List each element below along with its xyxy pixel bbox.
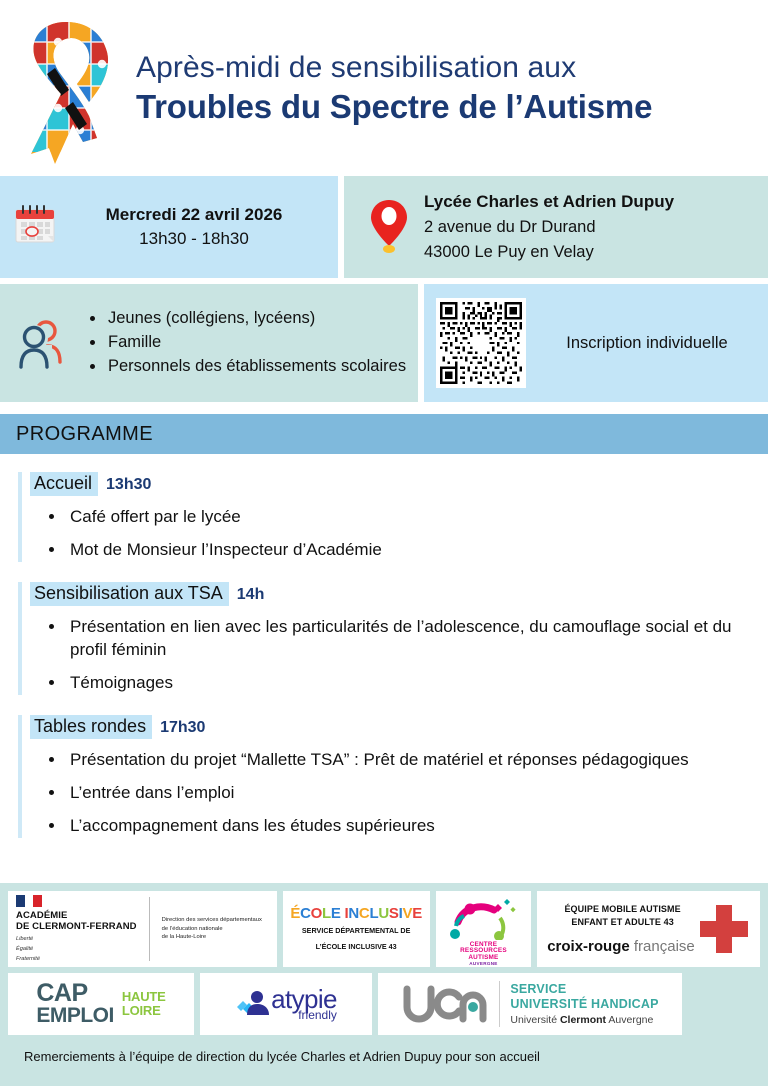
list-item: Mot de Monsieur l’Inspecteur d’Académie xyxy=(66,539,754,562)
uca-line2: UNIVERSITÉ HANDICAP xyxy=(510,997,658,1012)
cap-emploi-region2: LOIRE xyxy=(122,1004,166,1018)
logo-cap-emploi: CAP EMPLOI HAUTE LOIRE xyxy=(8,973,194,1035)
info-row-top: Mercredi 22 avril 2026 13h30 - 18h30 Lyc… xyxy=(0,176,768,278)
programme-section-time: 14h xyxy=(237,586,265,604)
programme-section-tables-rondes: Tables rondes 17h30 Présentation du proj… xyxy=(18,715,754,838)
programme-section-items: Présentation du projet “Mallette TSA” : … xyxy=(22,749,754,838)
list-item: Jeunes (collégiens, lycéens) xyxy=(106,307,406,331)
academie-line2: DE CLERMONT-FERRAND xyxy=(16,921,137,933)
cra-line4: AUVERGNE xyxy=(460,962,507,967)
audience-box: Jeunes (collégiens, lycéens) Famille Per… xyxy=(0,284,418,402)
autism-puzzle-ribbon-icon xyxy=(10,6,122,171)
croix-rouge-brand-light: française xyxy=(634,938,695,955)
two-people-icon xyxy=(10,317,74,369)
programme-section-time: 17h30 xyxy=(160,719,205,737)
logo-row-bottom: CAP EMPLOI HAUTE LOIRE atypie xyxy=(8,973,760,1035)
programme-section-name: Tables rondes xyxy=(30,715,152,739)
list-item: Personnels des établissements scolaires xyxy=(106,355,406,379)
poster-header: Après-midi de sensibilisation aux Troubl… xyxy=(0,0,768,176)
map-pin-icon xyxy=(362,198,416,256)
place-text: Lycée Charles et Adrien Dupuy 2 avenue d… xyxy=(416,189,674,265)
venue-address-line1: 2 avenue du Dr Durand xyxy=(424,215,674,240)
academie-motto1: Liberté xyxy=(16,936,137,943)
calendar-icon xyxy=(12,202,68,253)
event-time-range: 13h30 - 18h30 xyxy=(68,227,320,252)
logo-ecole-inclusive: ÉCOLE INCLUSIVE SERVICE DÉPARTEMENTAL DE… xyxy=(283,891,430,967)
academie-desc3: de la Haute-Loire xyxy=(162,933,262,941)
croix-rouge-line1: ÉQUIPE MOBILE AUTISME xyxy=(547,903,698,915)
academie-desc2: de l’éducation nationale xyxy=(162,925,262,933)
divider xyxy=(149,897,150,962)
info-row-bottom: Jeunes (collégiens, lycéens) Famille Per… xyxy=(0,284,768,402)
uca-mark-icon xyxy=(401,981,489,1027)
list-item: Présentation en lien avec les particular… xyxy=(66,616,754,662)
programme-section-name: Accueil xyxy=(30,472,98,496)
list-item: Café offert par le lycée xyxy=(66,506,754,529)
logo-croix-rouge-francaise: ÉQUIPE MOBILE AUTISME ENFANT ET ADULTE 4… xyxy=(537,891,760,967)
date-text: Mercredi 22 avril 2026 13h30 - 18h30 xyxy=(68,202,338,252)
poster-footer: ACADÉMIE DE CLERMONT-FERRAND Liberté Éga… xyxy=(0,883,768,1086)
cap-emploi-word2: EMPLOI xyxy=(36,1006,114,1026)
list-item: Présentation du projet “Mallette TSA” : … xyxy=(66,749,754,772)
croix-rouge-brand: croix-rouge française xyxy=(547,938,698,955)
programme-section-sensibilisation: Sensibilisation aux TSA 14h Présentation… xyxy=(18,582,754,695)
academie-line1: ACADÉMIE xyxy=(16,910,137,922)
list-item: L’entrée dans l’emploi xyxy=(66,782,754,805)
academie-motto3: Fraternité xyxy=(16,956,137,963)
logo-atypie-friendly: atypie friendly xyxy=(200,973,372,1035)
divider xyxy=(499,981,500,1027)
cra-mark-icon xyxy=(444,892,522,940)
list-item: L’accompagnement dans les études supérie… xyxy=(66,815,754,838)
place-box: Lycée Charles et Adrien Dupuy 2 avenue d… xyxy=(344,176,768,278)
audience-list: Jeunes (collégiens, lycéens) Famille Per… xyxy=(74,307,406,379)
academie-desc1: Direction des services départementaux xyxy=(162,916,262,924)
logo-centre-ressources-autisme: CENTRE RESSOURCES AUTISME AUVERGNE xyxy=(436,891,531,967)
cap-emploi-word1: CAP xyxy=(36,982,114,1006)
cap-emploi-region1: HAUTE xyxy=(122,990,166,1004)
red-cross-icon xyxy=(698,903,750,955)
programme-section-head: Sensibilisation aux TSA 14h xyxy=(22,582,754,606)
programme-body: Accueil 13h30 Café offert par le lycée M… xyxy=(0,454,768,868)
programme-header-bar: PROGRAMME xyxy=(0,414,768,454)
venue-address-line2: 43000 Le Puy en Velay xyxy=(424,240,674,265)
ecole-inclusive-sub1: SERVICE DÉPARTEMENTAL DE xyxy=(302,926,411,936)
venue-name: Lycée Charles et Adrien Dupuy xyxy=(424,189,674,215)
registration-box: Inscription individuelle xyxy=(424,284,768,402)
registration-label: Inscription individuelle xyxy=(526,334,768,353)
page-title-line1: Après-midi de sensibilisation aux xyxy=(136,49,754,87)
qr-code-icon[interactable] xyxy=(436,298,526,388)
uca-line1: SERVICE xyxy=(510,982,658,997)
list-item: Famille xyxy=(106,331,406,355)
date-box: Mercredi 22 avril 2026 13h30 - 18h30 xyxy=(0,176,338,278)
poster-root: Après-midi de sensibilisation aux Troubl… xyxy=(0,0,768,1086)
logo-uca-service-universite-handicap: SERVICE UNIVERSITÉ HANDICAP Université C… xyxy=(378,973,682,1035)
croix-rouge-brand-bold: croix-rouge xyxy=(547,938,630,955)
programme-section-time: 13h30 xyxy=(106,476,151,494)
info-boxes: Mercredi 22 avril 2026 13h30 - 18h30 Lyc… xyxy=(0,176,768,402)
programme-section-accueil: Accueil 13h30 Café offert par le lycée M… xyxy=(18,472,754,562)
programme-section-head: Accueil 13h30 xyxy=(22,472,754,496)
programme-section-items: Café offert par le lycée Mot de Monsieur… xyxy=(22,506,754,562)
programme-section-name: Sensibilisation aux TSA xyxy=(30,582,229,606)
poster-title-block: Après-midi de sensibilisation aux Troubl… xyxy=(122,49,760,128)
logo-academie-clermont-ferrand: ACADÉMIE DE CLERMONT-FERRAND Liberté Éga… xyxy=(8,891,277,967)
atypie-mark-icon xyxy=(235,989,271,1019)
ecole-inclusive-sub2: L’ÉCOLE INCLUSIVE 43 xyxy=(316,942,397,952)
list-item: Témoignages xyxy=(66,672,754,695)
programme-section-head: Tables rondes 17h30 xyxy=(22,715,754,739)
programme-section-items: Présentation en lien avec les particular… xyxy=(22,616,754,695)
croix-rouge-line2: ENFANT ET ADULTE 43 xyxy=(547,916,698,928)
programme-title: PROGRAMME xyxy=(16,423,153,446)
event-date: Mercredi 22 avril 2026 xyxy=(68,202,320,228)
academie-motto2: Égalité xyxy=(16,946,137,953)
ecole-inclusive-wordmark: ÉCOLE INCLUSIVE xyxy=(290,906,422,921)
thanks-note: Remerciements à l’équipe de direction du… xyxy=(8,1041,760,1064)
french-flag-icon xyxy=(16,895,42,907)
logo-row-top: ACADÉMIE DE CLERMONT-FERRAND Liberté Éga… xyxy=(8,891,760,967)
uca-line3: Université Clermont Auvergne xyxy=(510,1014,658,1026)
page-title-line2: Troubles du Spectre de l’Autisme xyxy=(136,86,754,127)
